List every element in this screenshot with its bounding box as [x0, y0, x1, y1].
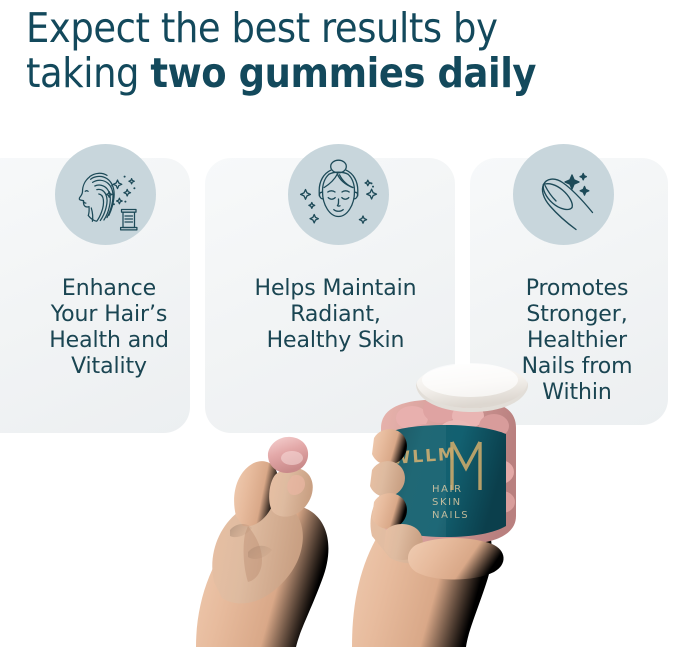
left-hand — [196, 437, 328, 647]
headline-line-2: taking two gummies daily — [26, 51, 666, 96]
caption-line: Radiant, — [233, 302, 438, 328]
caption-line: Stronger, — [487, 302, 667, 328]
headline-line-1: Expect the best results by — [26, 6, 666, 51]
headline-line-2-bold-text: two gummies daily — [150, 49, 536, 97]
hair-strand-icon — [55, 144, 156, 245]
radiant-face-icon — [288, 144, 389, 245]
caption-line: Enhance — [0, 276, 218, 302]
caption-line: Your Hair’s — [0, 302, 218, 328]
headline-line-1-text: Expect the best results by — [26, 4, 498, 52]
hands-holding-gummy-bottle-photo: WLLM HAIR SKIN NAILS — [0, 330, 679, 647]
bottle-cap — [416, 363, 528, 414]
gummy-bottle: WLLM HAIR SKIN NAILS — [370, 363, 528, 580]
headline-line-2-light-text: taking — [26, 49, 150, 97]
fingernail-icon — [513, 144, 614, 245]
caption-line: Promotes — [487, 276, 667, 302]
caption-line: Helps Maintain — [233, 276, 438, 302]
page-title: Expect the best results by taking two gu… — [26, 6, 666, 96]
product-benefits-infographic: Expect the best results by taking two gu… — [0, 0, 679, 647]
